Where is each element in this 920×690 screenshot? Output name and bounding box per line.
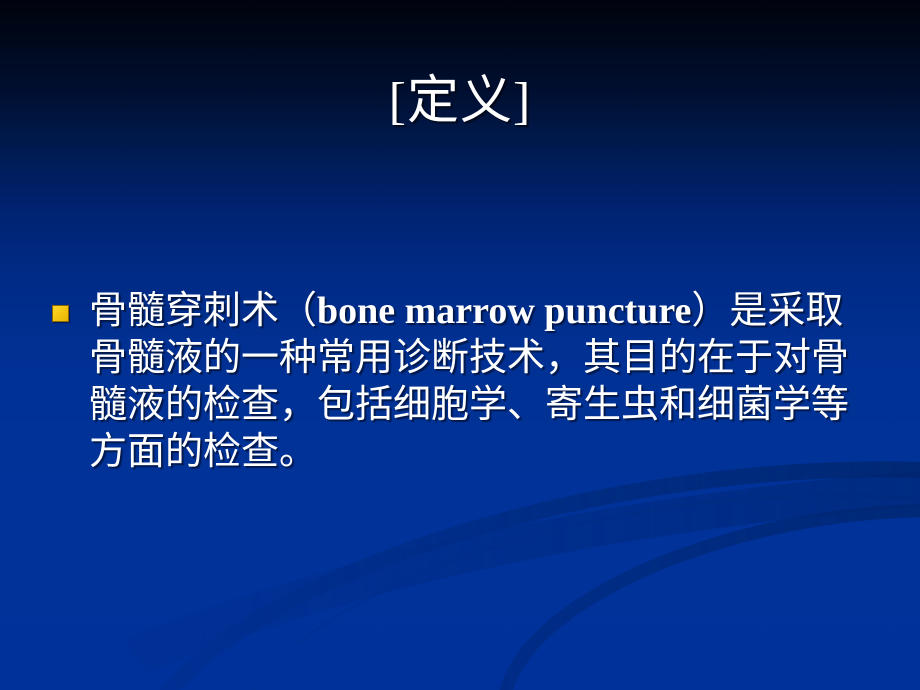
bullet-paragraph: 骨髓穿刺术（bone marrow puncture）是采取骨髓液的一种常用诊断…: [89, 288, 872, 476]
list-item: 骨髓穿刺术（bone marrow puncture）是采取骨髓液的一种常用诊断…: [48, 288, 872, 476]
bullet-text-segment-latin: bone marrow puncture: [317, 290, 691, 332]
slide-title: [定义]: [0, 70, 920, 134]
bullet-text-segment-cjk-1: 骨髓穿刺术（: [89, 290, 317, 332]
slide-body: 骨髓穿刺术（bone marrow puncture）是采取骨髓液的一种常用诊断…: [48, 288, 872, 476]
square-bullet-icon: [52, 305, 69, 322]
presentation-slide: [定义] 骨髓穿刺术（bone marrow puncture）是采取骨髓液的一…: [0, 0, 920, 690]
